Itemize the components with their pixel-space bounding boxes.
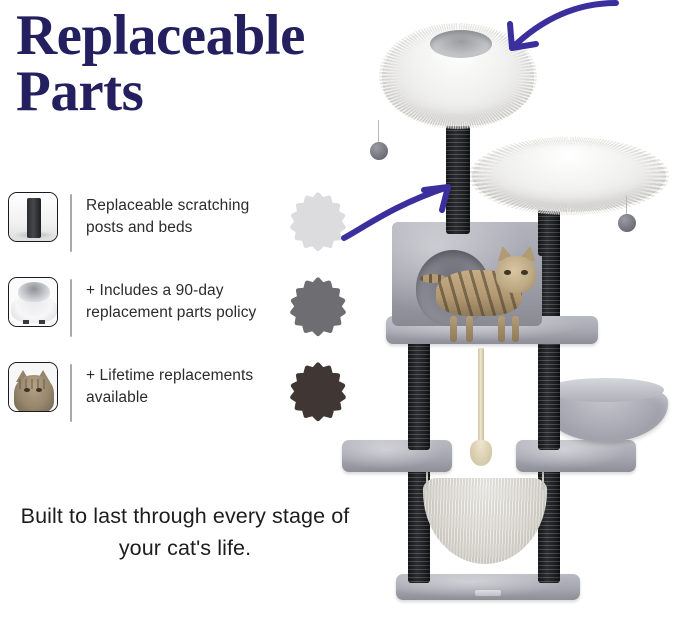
fluffy-bed-thumbnail — [8, 277, 58, 327]
lower-left-platform — [342, 440, 452, 472]
brand-logo-tag — [475, 590, 501, 596]
feature-item-1: Replaceable scratching posts and beds — [8, 190, 308, 275]
page-title: Replaceable Parts — [16, 8, 376, 120]
rope-toy — [478, 348, 484, 448]
lower-right-platform — [516, 440, 636, 472]
feature-item-2: + Includes a 90-day replacement parts po… — [8, 275, 308, 360]
cat-head — [496, 256, 536, 293]
second-fluffy-bed — [472, 140, 666, 212]
feature-label-3: + Lifetime replacements available — [86, 360, 286, 409]
feature-divider — [70, 364, 72, 422]
feature-divider — [70, 194, 72, 252]
cat-photo-thumbnail — [8, 362, 58, 412]
feature-list: Replaceable scratching posts and beds + … — [8, 190, 308, 445]
basket-rim — [546, 378, 664, 402]
feature-divider — [70, 279, 72, 337]
scratching-post — [408, 330, 430, 450]
scratching-post-thumbnail — [8, 192, 58, 242]
cat-leg — [466, 316, 473, 342]
feature-item-3: + Lifetime replacements available — [8, 360, 308, 445]
tagline: Built to last through every stage of you… — [20, 500, 350, 565]
feature-label-1: Replaceable scratching posts and beds — [86, 190, 286, 239]
cat — [436, 248, 546, 318]
cat-eye — [521, 270, 528, 275]
cat-leg — [450, 316, 457, 342]
infographic-canvas: Replaceable Parts Replaceable scratching… — [0, 0, 679, 630]
cat-leg — [512, 316, 519, 342]
rope-tassel — [470, 440, 492, 466]
title-line-1: Replaceable — [16, 4, 305, 67]
title-line-2: Parts — [16, 64, 376, 120]
arrow-to-second-bed — [338, 180, 468, 247]
product-image — [330, 0, 679, 630]
dangling-pom-pom — [370, 142, 388, 160]
arrow-to-top-bed — [440, 0, 620, 77]
cat-leg — [498, 316, 505, 342]
cat-eye — [504, 270, 511, 275]
hammock — [423, 478, 547, 564]
feature-label-2: + Includes a 90-day replacement parts po… — [86, 275, 286, 324]
dangling-pom-pom — [618, 214, 636, 232]
